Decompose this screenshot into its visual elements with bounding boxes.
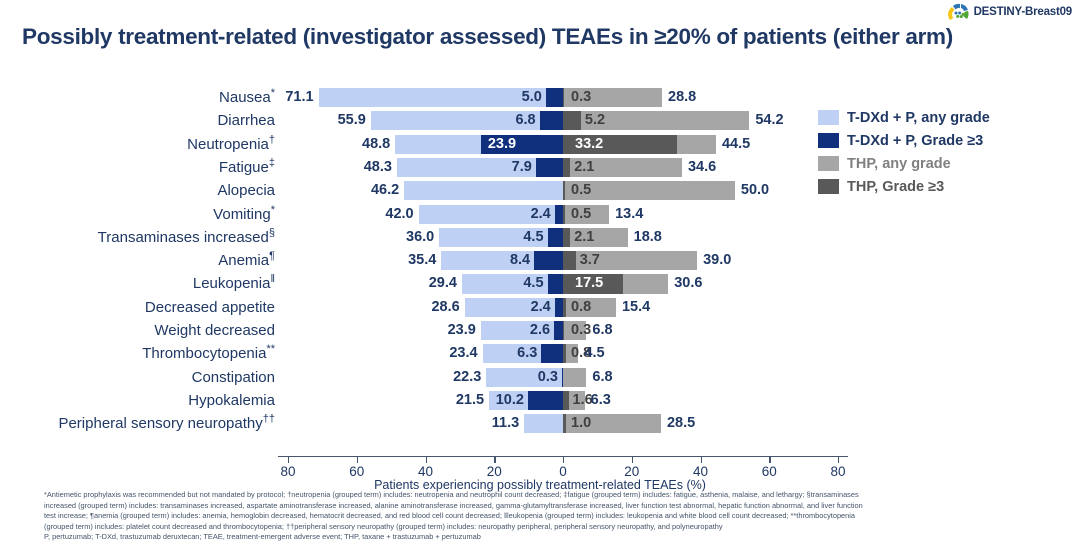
value-tdxd-grade3: 10.2 [496,389,524,412]
value-tdxd-grade3: 4.5 [523,272,543,295]
value-tdxd-total: 21.5 [456,389,484,412]
footnote-line: test increase; ¶anemia (grouped term) in… [44,511,1064,522]
bar-thp-grade3 [563,205,565,224]
value-tdxd-total: 46.2 [371,179,399,202]
chart-row: Peripheral sensory neuropathy††11.31.028… [0,412,1080,435]
bar-zone: 55.96.85.254.2 [0,109,820,132]
value-tdxd-grade3: 2.4 [531,203,551,226]
axis-tick [494,456,495,463]
axis-tick [769,456,770,463]
bar-zone: 21.510.21.66.3 [0,389,820,412]
legend-label: THP, any grade [847,156,951,172]
value-thp-total: 44.5 [722,133,750,156]
bar-thp-grade3 [563,181,565,200]
logo-bar: DESTINY-Breast09 [0,0,1080,24]
bar-thp-grade3 [563,111,581,130]
chart-row: Constipation22.30.36.8 [0,366,1080,389]
value-tdxd-grade3: 8.4 [510,249,530,272]
value-thp-grade3: 2.1 [574,226,594,249]
bar-thp-any-grade [563,228,628,247]
bar-zone: 28.62.40.815.4 [0,296,820,319]
bar-thp-grade3 [563,391,569,410]
value-thp-total: 6.3 [591,389,611,412]
value-thp-grade3: 0.3 [571,319,591,342]
chart-row: Weight decreased23.92.60.36.8 [0,319,1080,342]
axis-tick-label: 60 [762,464,777,479]
axis-tick-label: 40 [418,464,433,479]
value-tdxd-grade3: 2.6 [530,319,550,342]
bar-zone: 48.823.933.244.5 [0,133,820,156]
bar-thp-grade3 [563,158,570,177]
value-tdxd-total: 55.9 [338,109,366,132]
bar-zone: 23.92.60.36.8 [0,319,820,342]
bar-tdxd-grade3 [548,274,563,293]
axis-tick-label: 20 [487,464,502,479]
value-thp-total: 30.6 [674,272,702,295]
bar-zone: 46.20.550.0 [0,179,820,202]
value-tdxd-total: 11.3 [492,412,519,435]
value-thp-grade3: 2.1 [574,156,594,179]
bar-tdxd-grade3 [540,111,563,130]
legend-swatch [818,110,839,125]
bar-thp-grade3 [563,298,566,317]
value-tdxd-grade3: 6.8 [515,109,535,132]
value-thp-total: 34.6 [688,156,716,179]
axis-tick-label: 60 [349,464,364,479]
value-thp-grade3: 1.0 [571,412,591,435]
value-tdxd-total: 48.3 [364,156,392,179]
bar-tdxd-grade3 [555,298,563,317]
value-thp-total: 13.4 [615,203,643,226]
bar-tdxd-grade3 [548,228,563,247]
value-thp-grade3: 0.3 [571,86,591,109]
bar-thp-grade3 [563,414,566,433]
bar-tdxd-grade3 [541,344,563,363]
value-thp-total: 28.8 [668,86,696,109]
legend-label: T-DXd + P, Grade ≥3 [847,133,983,149]
axis-tick [357,456,358,463]
value-tdxd-grade3: 4.5 [523,226,543,249]
value-tdxd-total: 35.4 [408,249,436,272]
bar-zone: 48.37.92.134.6 [0,156,820,179]
value-thp-total: 18.8 [634,226,662,249]
chart-row: Vomiting*42.02.40.513.4 [0,203,1080,226]
axis-tick [563,456,564,463]
value-thp-grade3: 0.5 [571,203,591,226]
legend-label: THP, Grade ≥3 [847,179,944,195]
legend-swatch [818,156,839,171]
value-thp-grade3: 5.2 [585,109,605,132]
bar-tdxd-any-grade [319,88,546,107]
bar-thp-grade3 [563,228,570,247]
axis-tick [701,456,702,463]
chart-row: Anemia¶35.48.43.739.0 [0,249,1080,272]
value-tdxd-grade3: 6.3 [517,342,537,365]
bar-zone: 22.30.36.8 [0,366,820,389]
bar-zone: 42.02.40.513.4 [0,203,820,226]
bar-thp-grade3 [563,321,564,340]
footnote-line: *Antiemetic prophylaxis was recommended … [44,490,1064,501]
axis-tick-label: 0 [559,464,567,479]
bar-thp-grade3 [563,344,566,363]
bar-tdxd-grade3 [554,321,563,340]
bar-zone: 35.48.43.739.0 [0,249,820,272]
bar-tdxd-grade3 [546,88,563,107]
value-thp-total: 6.8 [592,319,612,342]
page-title: Possibly treatment-related (investigator… [22,24,1067,50]
value-thp-grade3: 1.6 [573,389,593,412]
bar-zone: 11.31.028.5 [0,412,820,435]
legend-item: T-DXd + P, any grade [818,106,1068,129]
value-tdxd-total: 23.9 [448,319,476,342]
value-tdxd-grade3: 2.4 [531,296,551,319]
legend-item: THP, Grade ≥3 [818,175,1068,198]
footnote-line: P, pertuzumab; T-DXd, trastuzumab deruxt… [44,532,1064,543]
value-thp-total: 54.2 [755,109,783,132]
value-thp-grade3: 33.2 [575,133,603,156]
value-tdxd-grade3: 23.9 [488,133,516,156]
value-thp-total: 28.5 [667,412,695,435]
value-tdxd-total: 36.0 [406,226,434,249]
axis-tick-label: 40 [693,464,708,479]
value-thp-total: 50.0 [741,179,769,202]
value-tdxd-total: 71.1 [285,86,313,109]
footnote-line: (grouped term) includes: platelet count … [44,522,1064,533]
legend-swatch [818,179,839,194]
value-tdxd-total: 22.3 [453,366,481,389]
axis-tick [288,456,289,463]
value-thp-total: 15.4 [622,296,650,319]
chart-row: Hypokalemia21.510.21.66.3 [0,389,1080,412]
value-thp-total: 4.5 [584,342,604,365]
bar-tdxd-grade3 [534,251,563,270]
bar-tdxd-any-grade [524,414,563,433]
value-tdxd-grade3: 0.3 [538,366,558,389]
axis-tick [632,456,633,463]
bar-tdxd-any-grade [395,135,481,154]
value-tdxd-total: 29.4 [429,272,457,295]
value-tdxd-grade3: 5.0 [522,86,542,109]
axis-tick-label: 20 [624,464,639,479]
bar-thp-grade3 [563,251,576,270]
footnotes: *Antiemetic prophylaxis was recommended … [44,490,1064,543]
value-thp-grade3: 0.5 [571,179,591,202]
bar-tdxd-grade3 [555,205,563,224]
value-tdxd-total: 42.0 [385,203,413,226]
axis-tick [426,456,427,463]
value-tdxd-total: 48.8 [362,133,390,156]
chart-legend: T-DXd + P, any gradeT-DXd + P, Grade ≥3T… [818,106,1068,198]
bar-tdxd-grade3 [528,391,563,410]
chart-row: Decreased appetite28.62.40.815.4 [0,296,1080,319]
logo-label: DESTINY-Breast09 [974,6,1072,18]
bar-thp-any-grade [563,368,586,387]
legend-item: THP, any grade [818,152,1068,175]
bar-thp-grade3 [563,88,564,107]
bar-zone: 71.15.00.328.8 [0,86,820,109]
bar-tdxd-any-grade [404,181,563,200]
legend-item: T-DXd + P, Grade ≥3 [818,129,1068,152]
value-tdxd-total: 28.6 [431,296,459,319]
value-thp-grade3: 3.7 [580,249,600,272]
value-thp-total: 39.0 [703,249,731,272]
bar-zone: 29.44.517.530.6 [0,272,820,295]
value-tdxd-total: 23.4 [449,342,477,365]
value-thp-total: 6.8 [592,366,612,389]
axis-tick-label: 80 [830,464,845,479]
bar-tdxd-grade3 [536,158,563,177]
value-tdxd-grade3: 7.9 [512,156,532,179]
destiny-breast-logo: DESTINY-Breast09 [948,2,1072,22]
destiny-breast-logo-icon [948,2,970,22]
axis-tick-label: 80 [280,464,295,479]
chart-row: Transaminases increased§36.04.52.118.8 [0,226,1080,249]
legend-swatch [818,133,839,148]
bar-zone: 36.04.52.118.8 [0,226,820,249]
value-thp-grade3: 0.8 [571,296,591,319]
value-thp-grade3: 17.5 [575,272,603,295]
axis-tick [838,456,839,463]
footnote-line: increased (grouped term) includes: trans… [44,501,1064,512]
chart-row: Thrombocytopenia**23.46.30.84.5 [0,342,1080,365]
legend-label: T-DXd + P, any grade [847,110,990,126]
bar-tdxd-any-grade [371,111,540,130]
bar-zone: 23.46.30.84.5 [0,342,820,365]
chart-row: Leukopenia‖29.44.517.530.6 [0,272,1080,295]
